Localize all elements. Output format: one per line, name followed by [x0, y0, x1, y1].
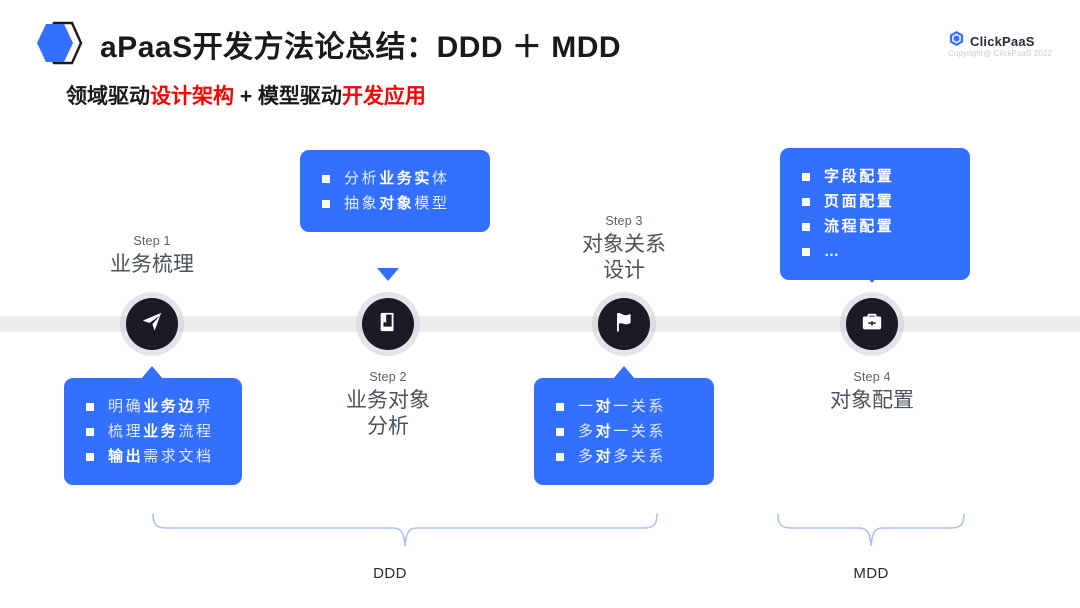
bullet-square-icon — [802, 248, 810, 256]
list-item: 字段配置 — [802, 164, 948, 189]
detail-card-step-3[interactable]: 一对一关系 多对一关系 多对多关系 — [534, 378, 714, 485]
step-name-1: 业务梳理 — [62, 252, 242, 278]
timeline-node-step-4[interactable] — [846, 298, 898, 350]
bullet-square-icon — [322, 175, 330, 183]
item-text-bold: 页面配置 — [824, 194, 894, 209]
briefcase-icon — [861, 311, 883, 338]
list-item: 抽象对象模型 — [322, 191, 468, 216]
detail-list-step-1: 明确业务边界 梳理业务流程 输出需求文档 — [86, 394, 220, 469]
step-number-2: Step 2 — [298, 370, 478, 384]
detail-card-step-4[interactable]: 字段配置 页面配置 流程配置 … — [780, 148, 970, 280]
bullet-square-icon — [802, 173, 810, 181]
item-text-plain-1: 梳理 — [108, 424, 143, 439]
step-name-4: 对象配置 — [782, 388, 962, 414]
item-text-plain-2: 需求文档 — [143, 449, 213, 464]
item-text-bold: 字段配置 — [824, 169, 894, 184]
detail-card-step-2[interactable]: 分析业务实体 抽象对象模型 — [300, 150, 490, 232]
brand-copyright: Copyright@ ClickPaaS 2022 — [948, 49, 1052, 58]
bullet-square-icon — [802, 198, 810, 206]
brace-mdd — [775, 512, 967, 548]
item-text-bold: 对 — [596, 449, 614, 464]
item-text-bold: 业务实 — [379, 171, 432, 186]
item-text-bold: … — [824, 244, 842, 259]
step-name-2: 业务对象 分析 — [298, 388, 478, 439]
item-text-plain-2: 多关系 — [613, 449, 666, 464]
step-number-4: Step 4 — [782, 370, 962, 384]
item-text-plain-1: 抽象 — [344, 196, 379, 211]
detail-card-step-1[interactable]: 明确业务边界 梳理业务流程 输出需求文档 — [64, 378, 242, 485]
list-item: 页面配置 — [802, 189, 948, 214]
item-text-plain-1: 多 — [578, 449, 596, 464]
hexagon-logo-icon — [34, 20, 88, 66]
page-header: aPaaS开发方法论总结：DDD ＋ MDD 领域驱动设计架构 + 模型驱动开发… — [0, 0, 1080, 120]
subtitle-highlight-2: 开发应用 — [342, 85, 426, 108]
card-tail-step-2 — [377, 268, 399, 281]
step-number-1: Step 1 — [62, 234, 242, 248]
item-text-plain-2: 体 — [432, 171, 450, 186]
item-text-plain-2: 流程 — [178, 424, 213, 439]
item-text-bold: 对 — [596, 424, 614, 439]
brand-logo: ClickPaaS Copyright@ ClickPaaS 2022 — [948, 30, 1052, 58]
item-text-bold: 流程配置 — [824, 219, 894, 234]
item-text-plain-1: 明确 — [108, 399, 143, 414]
subtitle-part-1: 领域驱动 — [66, 85, 150, 108]
step-name-3: 对象关系 设计 — [534, 232, 714, 283]
item-text-plain-2: 界 — [196, 399, 214, 414]
page-title: aPaaS开发方法论总结：DDD ＋ MDD — [100, 22, 621, 66]
list-item: 梳理业务流程 — [86, 419, 220, 444]
timeline-node-step-2[interactable] — [362, 298, 414, 350]
brace-label-ddd: DDD — [330, 565, 450, 582]
bullet-square-icon — [322, 200, 330, 208]
item-text-plain-1: 一 — [578, 399, 596, 414]
brace-label-mdd: MDD — [811, 565, 931, 582]
item-text-bold: 输出 — [108, 449, 143, 464]
list-item: 明确业务边界 — [86, 394, 220, 419]
step-number-3: Step 3 — [534, 214, 714, 228]
bullet-square-icon — [86, 403, 94, 411]
bullet-square-icon — [802, 223, 810, 231]
flag-icon — [613, 311, 635, 338]
subtitle-highlight-1: 设计架构 — [150, 85, 234, 108]
brace-ddd — [150, 512, 660, 548]
timeline-node-step-3[interactable] — [598, 298, 650, 350]
item-text-bold: 对象 — [379, 196, 414, 211]
detail-list-step-2: 分析业务实体 抽象对象模型 — [322, 166, 468, 216]
step-label-2: Step 2 业务对象 分析 — [298, 370, 478, 439]
item-text-plain-1: 分析 — [344, 171, 379, 186]
timeline-node-step-1[interactable] — [126, 298, 178, 350]
item-text-bold: 对 — [596, 399, 614, 414]
item-text-bold: 业务 — [143, 424, 178, 439]
page-subtitle: 领域驱动设计架构 + 模型驱动开发应用 — [66, 80, 426, 110]
list-item: … — [802, 239, 948, 264]
list-item: 多对一关系 — [556, 419, 692, 444]
item-text-plain-2: 一关系 — [613, 399, 666, 414]
item-text-bold: 业务边 — [143, 399, 196, 414]
book-icon — [377, 311, 399, 338]
brand-name: ClickPaaS — [970, 34, 1035, 49]
title-row: aPaaS开发方法论总结：DDD ＋ MDD — [100, 22, 621, 66]
list-item: 流程配置 — [802, 214, 948, 239]
item-text-plain-2: 模型 — [414, 196, 449, 211]
step-label-4: Step 4 对象配置 — [782, 370, 962, 414]
bullet-square-icon — [556, 428, 564, 436]
subtitle-part-2: + 模型驱动 — [234, 85, 342, 108]
item-text-plain-1: 多 — [578, 424, 596, 439]
list-item: 一对一关系 — [556, 394, 692, 419]
item-text-plain-2: 一关系 — [613, 424, 666, 439]
step-label-3: Step 3 对象关系 设计 — [534, 214, 714, 283]
bullet-square-icon — [556, 403, 564, 411]
list-item: 输出需求文档 — [86, 444, 220, 469]
list-item: 分析业务实体 — [322, 166, 468, 191]
send-plane-icon — [141, 311, 163, 338]
step-label-1: Step 1 业务梳理 — [62, 234, 242, 278]
bullet-square-icon — [86, 453, 94, 461]
bullet-square-icon — [86, 428, 94, 436]
bullet-square-icon — [556, 453, 564, 461]
list-item: 多对多关系 — [556, 444, 692, 469]
detail-list-step-4: 字段配置 页面配置 流程配置 … — [802, 164, 948, 264]
detail-list-step-3: 一对一关系 多对一关系 多对多关系 — [556, 394, 692, 469]
